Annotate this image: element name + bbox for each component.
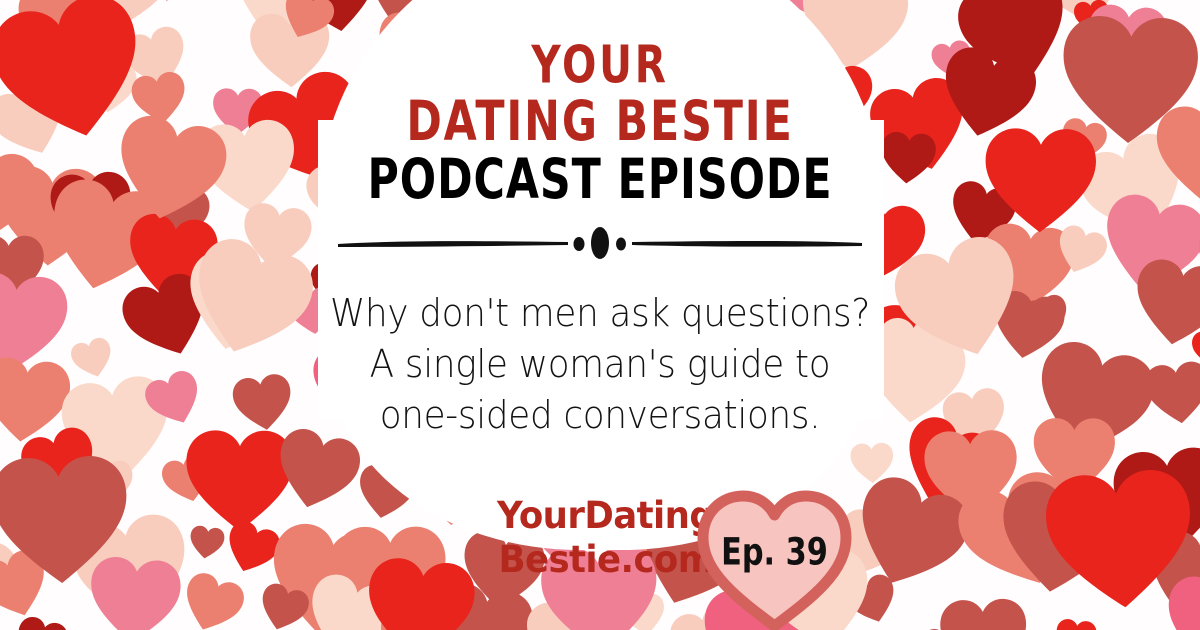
ornamental-divider-icon <box>336 226 864 260</box>
title-line-dating-bestie: DATING BESTIE <box>42 93 1158 148</box>
description-line-1: Why don't men ask questions? <box>318 288 882 339</box>
episode-number-badge: Ep. 39 <box>697 488 852 630</box>
website-url[interactable]: YourDating Bestie.com <box>430 494 720 582</box>
description-line-3: one-sided conversations. <box>318 390 882 441</box>
title-line-podcast-episode: PODCAST EPISODE <box>42 151 1158 206</box>
website-line-2: Bestie.com <box>436 538 714 582</box>
podcast-episode-cover: YOUR DATING BESTIE PODCAST EPISODE Why d… <box>0 0 1200 630</box>
episode-description: Why don't men ask questions? A single wo… <box>300 288 900 441</box>
website-line-1: YourDating <box>436 494 714 538</box>
episode-number-label: Ep. 39 <box>703 530 846 574</box>
description-line-2: A single woman's guide to <box>318 339 882 390</box>
title-line-your: YOUR <box>48 40 1152 92</box>
